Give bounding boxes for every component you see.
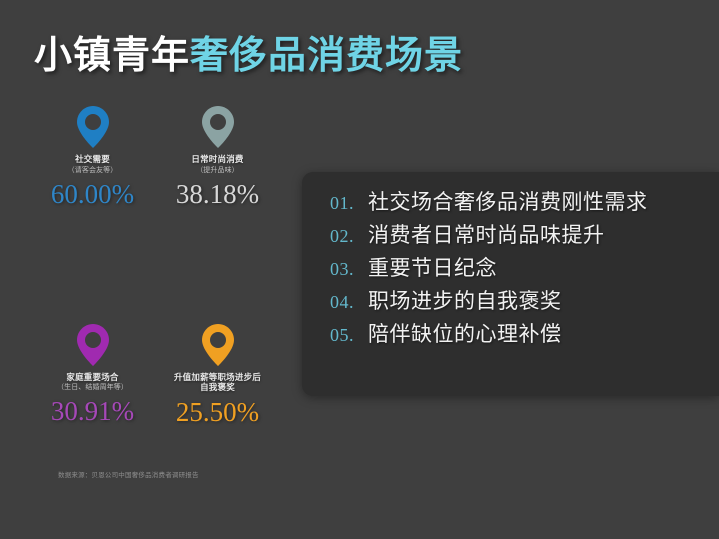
map-pin-icon (200, 104, 236, 150)
reason-list-panel: 01. 社交场合奢侈品消费刚性需求 02. 消费者日常时尚品味提升 03. 重要… (302, 172, 719, 396)
list-item[interactable]: 05. 陪伴缺位的心理补偿 (330, 318, 719, 348)
list-item[interactable]: 04. 职场进步的自我褒奖 (330, 285, 719, 315)
pin-sublabel: （生日、结婚周年等） (30, 383, 155, 392)
map-pin-icon (75, 104, 111, 150)
pin-label: 社交需要 (30, 154, 155, 165)
list-item-label: 职场进步的自我褒奖 (368, 285, 562, 315)
list-item[interactable]: 02. 消费者日常时尚品味提升 (330, 219, 719, 249)
map-pin-icon (200, 322, 236, 368)
list-item[interactable]: 03. 重要节日纪念 (330, 252, 719, 282)
list-item-number: 02. (330, 226, 368, 247)
list-item-label: 消费者日常时尚品味提升 (368, 219, 605, 249)
list-item-label: 陪伴缺位的心理补偿 (368, 318, 562, 348)
pin-label: 升值加薪等职场进步后 (155, 372, 280, 383)
list-item-number: 04. (330, 292, 368, 313)
pin-sublabel: （提升品味） (155, 166, 280, 175)
page-title: 小镇青年奢侈品消费场景 (34, 24, 463, 79)
page-title-accent: 奢侈品消费场景 (190, 35, 463, 77)
pin-label: 日常时尚消费 (155, 154, 280, 165)
pin-item-family-occasion[interactable]: 家庭重要场合 （生日、结婚周年等） 30.91% (30, 322, 155, 426)
slide-canvas: 小镇青年奢侈品消费场景 社交需要 （请客会友等） 60.00% 日常时尚消费 (0, 0, 719, 539)
reason-list: 01. 社交场合奢侈品消费刚性需求 02. 消费者日常时尚品味提升 03. 重要… (302, 172, 719, 348)
pin-value: 38.18% (155, 181, 280, 208)
list-item[interactable]: 01. 社交场合奢侈品消费刚性需求 (330, 186, 719, 216)
row-spacer (30, 208, 280, 322)
pin-label-line2: 自我褒奖 (155, 382, 280, 393)
list-item-number: 05. (330, 325, 368, 346)
footnote: 数据来源：贝恩公司中国奢侈品消费者调研报告 (58, 469, 199, 479)
pin-row: 家庭重要场合 （生日、结婚周年等） 30.91% 升值加薪等职场进步后 自我褒奖… (30, 322, 280, 426)
map-pin-icon (75, 322, 111, 368)
page-title-primary: 小镇青年 (34, 35, 190, 77)
list-item-label: 重要节日纪念 (368, 252, 497, 282)
pin-item-daily-fashion[interactable]: 日常时尚消费 （提升品味） 38.18% (155, 104, 280, 208)
pin-sublabel: （请客会友等） (30, 166, 155, 175)
pin-item-career-reward[interactable]: 升值加薪等职场进步后 自我褒奖 25.50% (155, 322, 280, 426)
pin-value: 60.00% (30, 181, 155, 208)
row-spacer (30, 426, 280, 539)
list-item-number: 01. (330, 193, 368, 214)
list-item-label: 社交场合奢侈品消费刚性需求 (368, 186, 648, 216)
pin-label: 家庭重要场合 (30, 372, 155, 383)
pin-value: 30.91% (30, 398, 155, 425)
list-item-number: 03. (330, 259, 368, 280)
pin-value: 25.50% (155, 399, 280, 426)
pin-item-social-need[interactable]: 社交需要 （请客会友等） 60.00% (30, 104, 155, 208)
pin-row: 社交需要 （请客会友等） 60.00% 日常时尚消费 （提升品味） 38.18% (30, 104, 280, 208)
